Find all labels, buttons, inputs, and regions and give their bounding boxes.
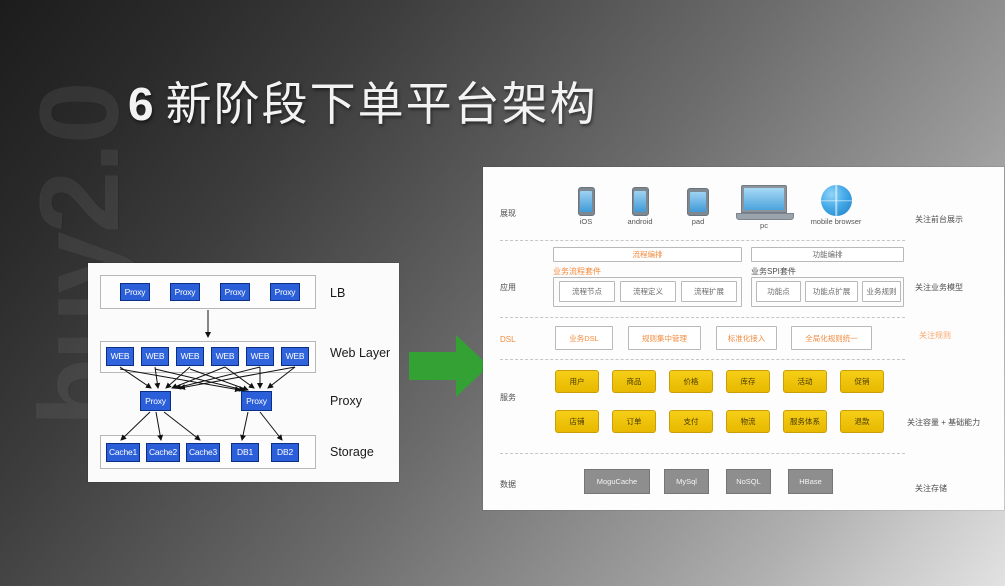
layer-label-web: Web Layer <box>330 346 390 360</box>
tablet-icon <box>687 188 709 216</box>
web-node[interactable]: WEB <box>281 347 309 366</box>
storage-node[interactable]: Cache2 <box>146 443 180 462</box>
divider-service <box>500 453 905 454</box>
device-caption: pc <box>736 221 792 230</box>
service-item[interactable]: 支付 <box>669 410 713 433</box>
dsl-item[interactable]: 标准化接入 <box>716 326 777 350</box>
proxy-node[interactable]: Proxy <box>241 391 272 411</box>
suite-item[interactable]: 流程节点 <box>559 281 615 302</box>
suite-title-spi: 业务SPI套件 <box>751 266 796 277</box>
page-title-number: 6 <box>128 78 156 130</box>
data-item[interactable]: MySql <box>664 469 709 494</box>
side-label-data: 关注存储 <box>915 483 947 494</box>
service-item[interactable]: 订单 <box>612 410 656 433</box>
side-label-service: 关注容量 + 基础能力 <box>907 417 980 428</box>
dsl-item[interactable]: 业务DSL <box>555 326 613 350</box>
suite-item[interactable]: 流程扩展 <box>681 281 737 302</box>
service-item[interactable]: 活动 <box>783 370 827 393</box>
service-item[interactable]: 促销 <box>840 370 884 393</box>
device-caption: iOS <box>569 217 603 226</box>
device-caption: pad <box>679 217 717 226</box>
side-label-presentation: 关注前台展示 <box>915 214 963 225</box>
page-title-text: 新阶段下单平台架构 <box>166 78 598 130</box>
dsl-item[interactable]: 规则集中管理 <box>628 326 701 350</box>
dsl-item[interactable]: 全局化规则统一 <box>791 326 872 350</box>
device-ios[interactable]: iOS <box>569 187 603 226</box>
storage-node[interactable]: DB1 <box>231 443 259 462</box>
web-node[interactable]: WEB <box>211 347 239 366</box>
orchestration-flow[interactable]: 流程编排 <box>553 247 742 262</box>
lb-node[interactable]: Proxy <box>120 283 150 301</box>
service-item[interactable]: 库存 <box>726 370 770 393</box>
divider-application <box>500 317 905 318</box>
phone-icon <box>578 187 595 216</box>
row-label-application: 应用 <box>500 282 516 293</box>
globe-icon <box>821 185 852 216</box>
service-item[interactable]: 店铺 <box>555 410 599 433</box>
storage-node[interactable]: Cache1 <box>106 443 140 462</box>
device-mobile-browser[interactable]: mobile browser <box>800 185 872 226</box>
service-item[interactable]: 物流 <box>726 410 770 433</box>
web-node[interactable]: WEB <box>176 347 204 366</box>
device-android[interactable]: android <box>620 187 660 226</box>
divider-presentation <box>500 240 905 241</box>
service-item[interactable]: 用户 <box>555 370 599 393</box>
row-label-service: 服务 <box>500 392 516 403</box>
web-node[interactable]: WEB <box>106 347 134 366</box>
side-label-application: 关注业务模型 <box>915 282 963 293</box>
service-item[interactable]: 退款 <box>840 410 884 433</box>
orchestration-function[interactable]: 功能编排 <box>751 247 904 262</box>
side-label-dsl: 关注规则 <box>919 330 951 341</box>
phone-icon <box>632 187 649 216</box>
row-label-presentation: 展现 <box>500 208 516 219</box>
service-item[interactable]: 商品 <box>612 370 656 393</box>
data-item[interactable]: HBase <box>788 469 833 494</box>
suite-item[interactable]: 业务规则 <box>862 281 901 302</box>
row-label-dsl: DSL <box>500 335 516 344</box>
suite-item[interactable]: 流程定义 <box>620 281 676 302</box>
storage-node[interactable]: DB2 <box>271 443 299 462</box>
lb-node[interactable]: Proxy <box>270 283 300 301</box>
device-caption: android <box>620 217 660 226</box>
device-pad[interactable]: pad <box>679 188 717 226</box>
device-pc[interactable]: pc <box>736 185 792 230</box>
suite-item[interactable]: 功能点 <box>756 281 801 302</box>
device-caption: mobile browser <box>800 217 872 226</box>
data-item[interactable]: MoguCache <box>584 469 650 494</box>
service-item[interactable]: 服务体系 <box>783 410 827 433</box>
left-architecture-diagram: Proxy Proxy Proxy Proxy LB WEB WEB WEB W… <box>88 263 399 482</box>
slide-canvas: buy2.0 6新阶段下单平台架构 Proxy Proxy Proxy Prox… <box>0 0 1005 586</box>
right-architecture-diagram: 展现 应用 DSL 服务 数据 关注前台展示 关注业务模型 关注规则 关注容量 … <box>483 167 1004 510</box>
service-item[interactable]: 价格 <box>669 370 713 393</box>
row-label-data: 数据 <box>500 479 516 490</box>
storage-node[interactable]: Cache3 <box>186 443 220 462</box>
laptop-icon <box>736 185 792 220</box>
layer-label-lb: LB <box>330 286 345 300</box>
page-title: 6新阶段下单平台架构 <box>128 68 598 134</box>
lb-node[interactable]: Proxy <box>170 283 200 301</box>
web-node[interactable]: WEB <box>141 347 169 366</box>
web-node[interactable]: WEB <box>246 347 274 366</box>
lb-node[interactable]: Proxy <box>220 283 250 301</box>
data-item[interactable]: NoSQL <box>726 469 771 494</box>
suite-title-flow: 业务流程套件 <box>553 266 601 277</box>
suite-item[interactable]: 功能点扩展 <box>805 281 858 302</box>
green-right-arrow-icon <box>409 327 491 405</box>
layer-label-storage: Storage <box>330 445 374 459</box>
divider-dsl <box>500 359 905 360</box>
proxy-node[interactable]: Proxy <box>140 391 171 411</box>
layer-label-proxy: Proxy <box>330 394 362 408</box>
